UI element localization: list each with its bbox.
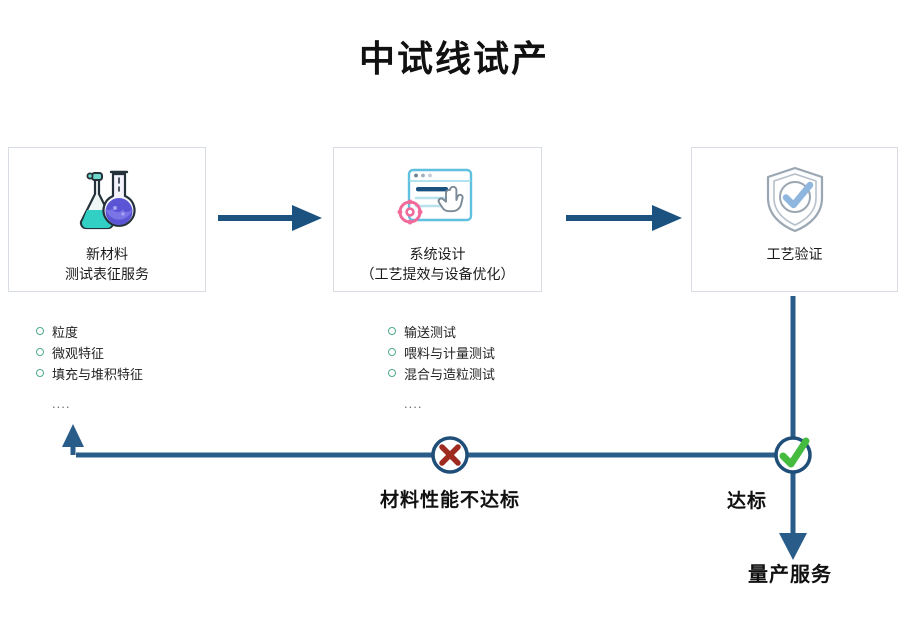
stage-label-line1: 系统设计 <box>410 246 466 262</box>
flow-arrow-stage1-to-stage2 <box>218 205 324 231</box>
shield-check-icon <box>760 162 830 238</box>
material-test-item-list: 粒度 微观特征 填充与堆积特征 .... <box>36 322 296 414</box>
stage-label: 工艺验证 <box>767 244 823 264</box>
list-item-label: 喂料与计量测试 <box>404 343 495 364</box>
browser-cursor-icon <box>392 162 484 238</box>
list-item: 喂料与计量测试 <box>388 343 648 364</box>
list-item: 填充与堆积特征 <box>36 364 296 385</box>
x-mark-icon <box>433 438 467 472</box>
bullet-circle-icon <box>388 369 396 377</box>
bullet-circle-icon <box>388 327 396 335</box>
list-item-label: 输送测试 <box>404 322 456 343</box>
stage-label: 新材料 测试表征服务 <box>65 244 149 284</box>
list-item-label: 粒度 <box>52 322 78 343</box>
list-ellipsis: .... <box>52 393 296 414</box>
check-mark-icon <box>776 438 810 472</box>
fail-branch-label: 材料性能不达标 <box>330 485 570 512</box>
stage-label-line2: （工艺提效与设备优化） <box>361 264 515 284</box>
stage-label-line1: 工艺验证 <box>767 246 823 262</box>
list-item: 输送测试 <box>388 322 648 343</box>
stage-box-system-design[interactable]: 系统设计 （工艺提效与设备优化） <box>333 147 542 292</box>
bullet-circle-icon <box>388 348 396 356</box>
stage-label-line1: 新材料 <box>86 246 128 262</box>
list-item: 粒度 <box>36 322 296 343</box>
flask-icon <box>69 162 145 238</box>
list-item-label: 混合与造粒测试 <box>404 364 495 385</box>
list-item: 混合与造粒测试 <box>388 364 648 385</box>
stage-label-line2: 测试表征服务 <box>65 264 149 284</box>
diagram-canvas: 中试线试产 <box>0 0 908 630</box>
system-test-item-list: 输送测试 喂料与计量测试 混合与造粒测试 .... <box>388 322 648 414</box>
list-ellipsis: .... <box>404 393 648 414</box>
flow-arrow-stage2-to-stage3 <box>566 205 684 231</box>
pass-branch-label: 达标 <box>671 486 767 513</box>
stage-box-new-material[interactable]: 新材料 测试表征服务 <box>8 147 206 292</box>
list-item-label: 填充与堆积特征 <box>52 364 143 385</box>
list-item: 微观特征 <box>36 343 296 364</box>
list-item-label: 微观特征 <box>52 343 104 364</box>
bullet-circle-icon <box>36 327 44 335</box>
stage-box-process-validation[interactable]: 工艺验证 <box>691 147 898 292</box>
stage-label: 系统设计 （工艺提效与设备优化） <box>361 244 515 284</box>
decision-path-connectors <box>0 0 908 630</box>
bullet-circle-icon <box>36 348 44 356</box>
page-title: 中试线试产 <box>0 30 908 82</box>
output-label: 量产服务 <box>672 558 908 587</box>
bullet-circle-icon <box>36 369 44 377</box>
